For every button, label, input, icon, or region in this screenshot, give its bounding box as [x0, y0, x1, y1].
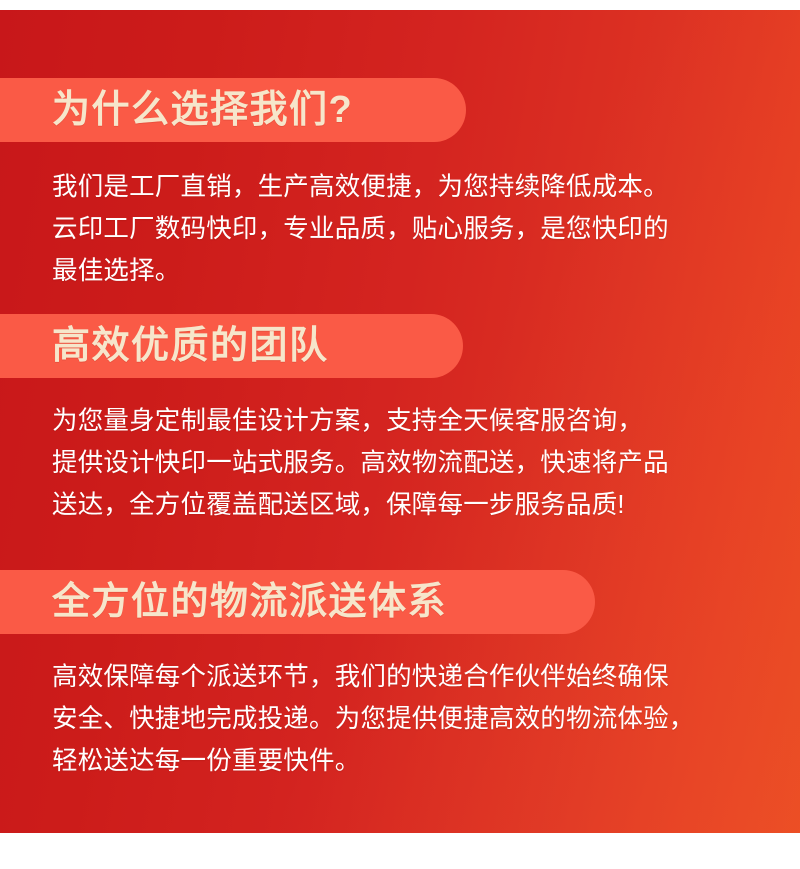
section-body-text-0: 我们是工厂直销，生产高效便捷，为您持续降低成本。 云印工厂数码快印，专业品质，贴… — [52, 166, 758, 292]
section-heading-pill-2: 全方位的物流派送体系 — [0, 570, 595, 634]
section-heading-label-1: 高效优质的团队 — [52, 327, 329, 365]
promo-banner: 为什么选择我们? 我们是工厂直销，生产高效便捷，为您持续降低成本。 云印工厂数码… — [0, 0, 800, 869]
section-body-text-1: 为您量身定制最佳设计方案，支持全天候客服咨询， 提供设计快印一站式服务。高效物流… — [52, 400, 758, 526]
section-heading-pill-1: 高效优质的团队 — [0, 314, 463, 378]
section-heading-pill-0: 为什么选择我们? — [0, 78, 466, 142]
section-heading-label-2: 全方位的物流派送体系 — [52, 583, 447, 621]
section-heading-label-0: 为什么选择我们? — [52, 91, 353, 129]
section-body-text-2: 高效保障每个派送环节，我们的快递合作伙伴始终确保 安全、快捷地完成投递。为您提供… — [52, 656, 758, 782]
